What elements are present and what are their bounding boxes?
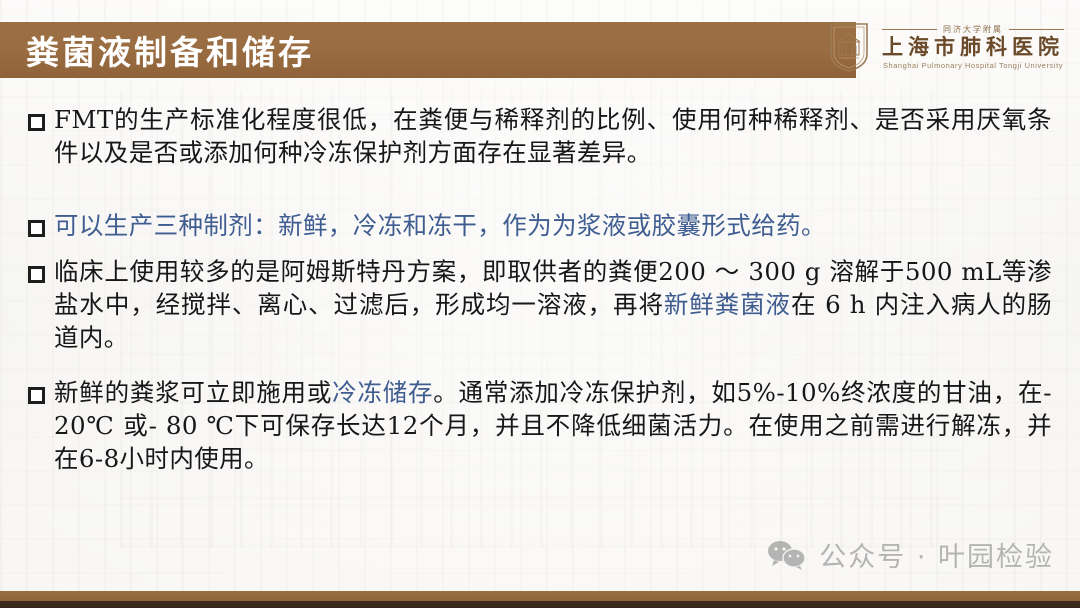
bullet-paragraph: 临床上使用较多的是阿姆斯特丹方案，即取供者的粪便200 ～ 300 g 溶解于5… [54,256,1052,354]
bullet-text-highlight: 新鲜粪菌液 [664,290,791,319]
page-title: 粪菌液制备和储存 [0,26,314,74]
bullet-text: FMT的生产标准化程度很低，在粪便与稀释剂的比例、使用何种稀释剂、是否采用厌氧条… [54,105,1052,167]
bullet-item: 临床上使用较多的是阿姆斯特丹方案，即取供者的粪便200 ～ 300 g 溶解于5… [28,256,1052,354]
bullet-item: 新鲜的粪浆可立即施用或冷冻储存。通常添加冷冻保护剂，如5%-10%终浓度的甘油，… [28,377,1052,475]
logo-rule-right [1009,29,1064,30]
watermark-text: 公众号 · 叶园检验 [819,535,1054,574]
logo-english-name: Shanghai Pulmonary Hospital Tongji Unive… [883,61,1063,70]
logo-hospital-name: 上海市肺科医院 [882,35,1064,59]
logo-rule-left [882,29,937,30]
logo-wordmark: 同济大学附属 上海市肺科医院 Shanghai Pulmonary Hospit… [882,24,1064,70]
bullet-square-icon [28,387,45,404]
shield-crest-icon [828,21,870,73]
bullet-paragraph: FMT的生产标准化程度很低，在粪便与稀释剂的比例、使用何种稀释剂、是否采用厌氧条… [54,104,1052,170]
slide: 粪菌液制备和储存 同济大学附属 上海市肺科医院 Shanghai Pulmona… [0,0,1080,608]
slide-body: FMT的生产标准化程度很低，在粪便与稀释剂的比例、使用何种稀释剂、是否采用厌氧条… [28,104,1052,489]
wechat-icon [767,540,807,570]
bullet-text: 新鲜的粪浆可立即施用或 [54,378,332,407]
bullet-item: 可以生产三种制剂：新鲜，冷冻和冻干，作为为浆液或胶囊形式给药。 [28,210,1052,243]
title-banner: 粪菌液制备和储存 [0,22,856,78]
bullet-square-icon [28,220,45,237]
bullet-paragraph: 新鲜的粪浆可立即施用或冷冻储存。通常添加冷冻保护剂，如5%-10%终浓度的甘油，… [54,377,1052,475]
bullet-text-highlight: 冷冻储存 [332,378,433,407]
bottom-accent-bar [0,591,1080,608]
bullet-paragraph: 可以生产三种制剂：新鲜，冷冻和冻干，作为为浆液或胶囊形式给药。 [54,210,826,243]
bullet-text: 可以生产三种制剂：新鲜，冷冻和冻干，作为为浆液或胶囊形式给药。 [54,211,826,240]
watermark: 公众号 · 叶园检验 [767,535,1054,574]
hospital-logo: 同济大学附属 上海市肺科医院 Shanghai Pulmonary Hospit… [828,18,1064,76]
bullet-item: FMT的生产标准化程度很低，在粪便与稀释剂的比例、使用何种稀释剂、是否采用厌氧条… [28,104,1052,170]
bullet-square-icon [28,114,45,131]
bullet-square-icon [28,266,45,283]
